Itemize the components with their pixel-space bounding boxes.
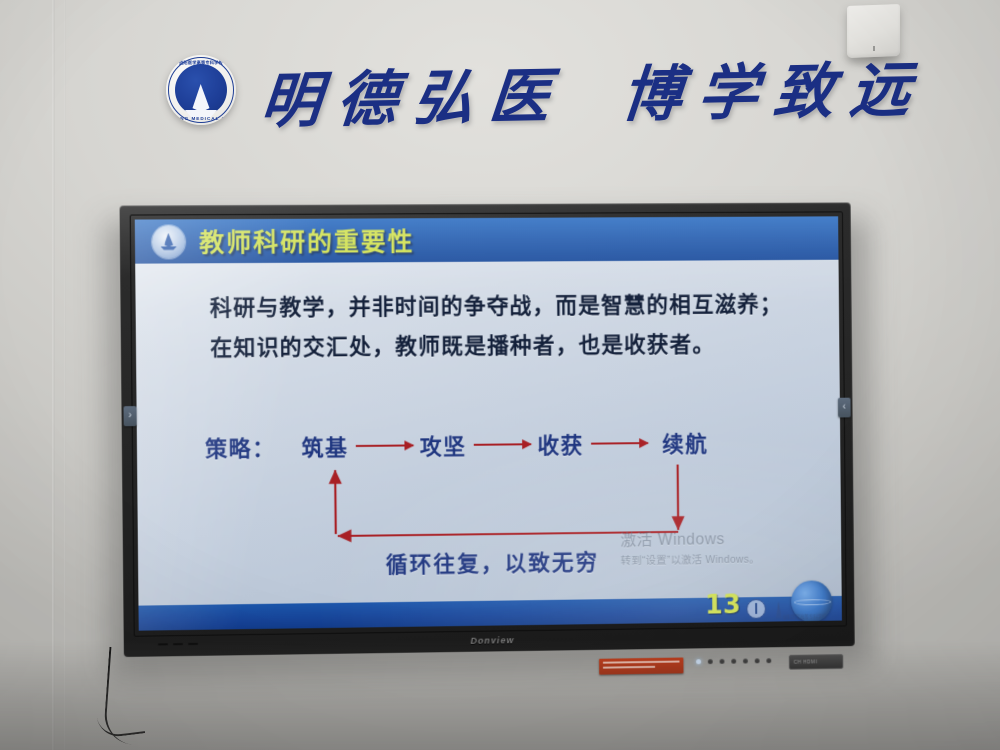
activation-subtitle: 转到“设置”以激活 Windows。 [621,552,760,569]
motto-phrase-1: 明德弘医 [258,47,570,139]
strategy-node-3: 收获 [537,428,584,460]
display-screen[interactable]: 教师科研的重要性 科研与教学，并非时间的争夺战，而是智慧的相互滋养； 在知识的交… [135,216,842,630]
strategy-node-2: 攻坚 [420,429,467,461]
wall-seam-secondary [64,0,66,750]
footer-caption: 益阳医学高等专科学校 [783,614,827,621]
motto-phrase-2: 博学致远 [618,41,930,133]
left-edge-tab-button[interactable]: › [123,406,136,426]
loop-arrow-up [335,470,336,534]
loop-arrow-down [678,465,679,530]
strategy-label: 策略： [205,431,276,464]
slide-body-text: 科研与教学，并非时间的争夺战，而是智慧的相互滋养； 在知识的交汇处，教师既是播种… [210,286,789,370]
slide-title: 教师科研的重要性 [199,222,415,259]
slide-body-line-2: 在知识的交汇处，教师既是播种者，也是收获者。 [210,325,789,369]
slide-body-line-1: 科研与教学，并非时间的争夺战，而是智慧的相互滋养； [210,286,789,330]
interactive-flat-panel-display[interactable]: 教师科研的重要性 科研与教学，并非时间的争夺战，而是智慧的相互滋养； 在知识的交… [120,202,855,657]
classroom-scene: 益阳医学高等专科学校 YIYANG MEDICAL COLLEGE 明德弘医 博… [0,0,1000,750]
slide-logo-icon [152,225,185,258]
logo-disc [175,64,227,116]
logo-name-cn: 益阳医学高等专科学校 [166,60,236,66]
arrow-right-icon-1 [355,444,413,447]
logo-sail-icon [193,84,210,112]
slide-logo-boat-icon [160,246,177,250]
strategy-node-4: 续航 [662,427,708,459]
college-logo: 益阳医学高等专科学校 YIYANG MEDICAL COLLEGE [166,55,236,125]
slide-logo-sail-icon [164,233,173,247]
arrow-right-icon-2 [473,443,530,446]
display-bezel: 教师科研的重要性 科研与教学，并非时间的争夺战，而是智慧的相互滋养； 在知识的交… [120,202,855,657]
wall-seam [52,0,55,750]
strategy-node-1: 筑基 [301,430,348,462]
strategy-flow: 策略： 筑基 攻坚 收获 续航 [205,427,708,464]
windows-activation-watermark: 激活 Windows 转到“设置”以激活 Windows。 [620,525,759,568]
activation-title: 激活 Windows [620,525,759,550]
arrow-right-icon-3 [591,442,648,445]
slide-page-number: 13 [705,590,741,620]
seal-icon [746,599,766,619]
wall-calligraphy-motto: 明德弘医 博学致远 [258,41,931,140]
right-edge-tab-button[interactable]: ‹ [838,398,851,418]
logo-name-en: YIYANG MEDICAL COLLEGE [166,116,236,121]
wall-lower-shading [0,640,1000,750]
slide-title-banner: 教师科研的重要性 [135,216,839,263]
